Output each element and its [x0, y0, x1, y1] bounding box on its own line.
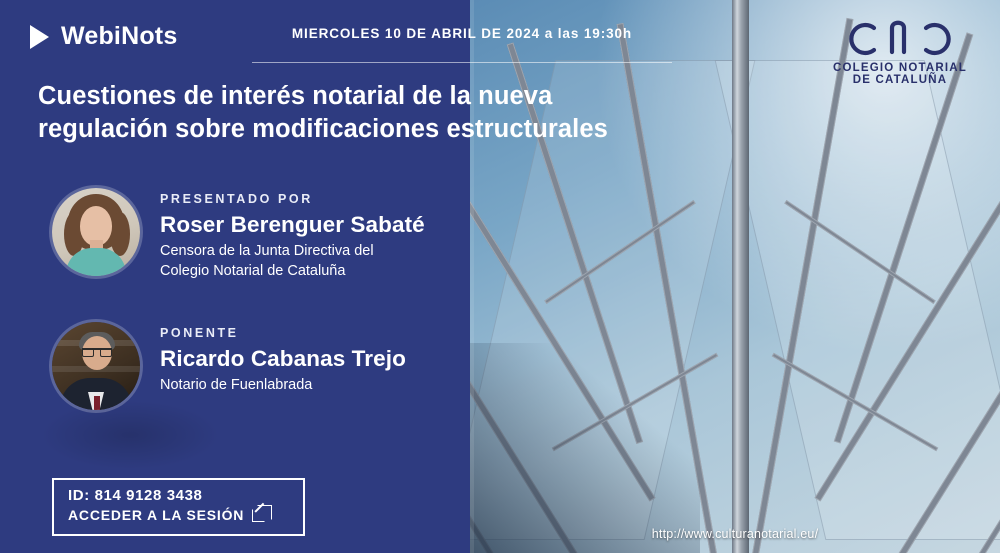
avatar-hair-right [110, 212, 130, 256]
avatar-glasses-right [100, 348, 112, 357]
presenter-name: Roser Berenguer Sabaté [160, 212, 425, 238]
page-title: Cuestiones de interés notarial de la nue… [38, 80, 648, 145]
external-link-icon [252, 509, 265, 522]
webinar-promo-banner: http://www.culturanotarial.eu/ COLEGIO N… [0, 0, 1000, 553]
event-date-text: MIERCOLES 10 DE ABRIL DE 2024 a las 19:3… [252, 26, 672, 41]
avatar-tie [94, 396, 100, 410]
presenter-text: PRESENTADO POR Roser Berenguer Sabaté Ce… [160, 188, 425, 281]
avatar-presenter [52, 188, 140, 276]
brand: WebiNots [30, 22, 177, 51]
presenter-description-line-2: Colegio Notarial de Cataluña [160, 262, 425, 282]
photo-caption: http://www.culturanotarial.eu/ [470, 527, 1000, 541]
speaker-role: PONENTE [160, 326, 406, 340]
logo-line-2: DE CATALUÑA [830, 74, 970, 86]
speaker-text: PONENTE Ricardo Cabanas Trejo Notario de… [160, 322, 406, 396]
colegio-notarial-logo: COLEGIO NOTARIAL DE CATALUÑA [830, 14, 970, 86]
play-icon [30, 25, 49, 49]
avatar-glasses-left [82, 348, 94, 357]
divider-line [252, 62, 672, 63]
join-session-link[interactable]: ACCEDER A LA SESIÓN [68, 507, 289, 523]
central-mast [732, 0, 749, 553]
presenter-block: PRESENTADO POR Roser Berenguer Sabaté Ce… [52, 188, 425, 281]
session-access-box[interactable]: ID: 814 9128 3438 ACCEDER A LA SESIÓN [52, 478, 305, 536]
cnc-monogram-icon [830, 14, 970, 62]
presenter-description-line-1: Censora de la Junta Directiva del [160, 242, 425, 262]
brand-name: WebiNots [61, 22, 177, 51]
session-id: ID: 814 9128 3438 [68, 487, 289, 504]
logo-line-1: COLEGIO NOTARIAL [830, 62, 970, 74]
event-date: MIERCOLES 10 DE ABRIL DE 2024 a las 19:3… [252, 26, 672, 41]
join-session-label: ACCEDER A LA SESIÓN [68, 507, 244, 523]
speaker-description-line-1: Notario de Fuenlabrada [160, 376, 406, 396]
speaker-block: PONENTE Ricardo Cabanas Trejo Notario de… [52, 322, 406, 410]
speaker-name: Ricardo Cabanas Trejo [160, 346, 406, 372]
avatar-speaker [52, 322, 140, 410]
shadow-corner [470, 343, 700, 553]
presenter-role: PRESENTADO POR [160, 192, 425, 206]
decorative-shadow [40, 400, 220, 470]
